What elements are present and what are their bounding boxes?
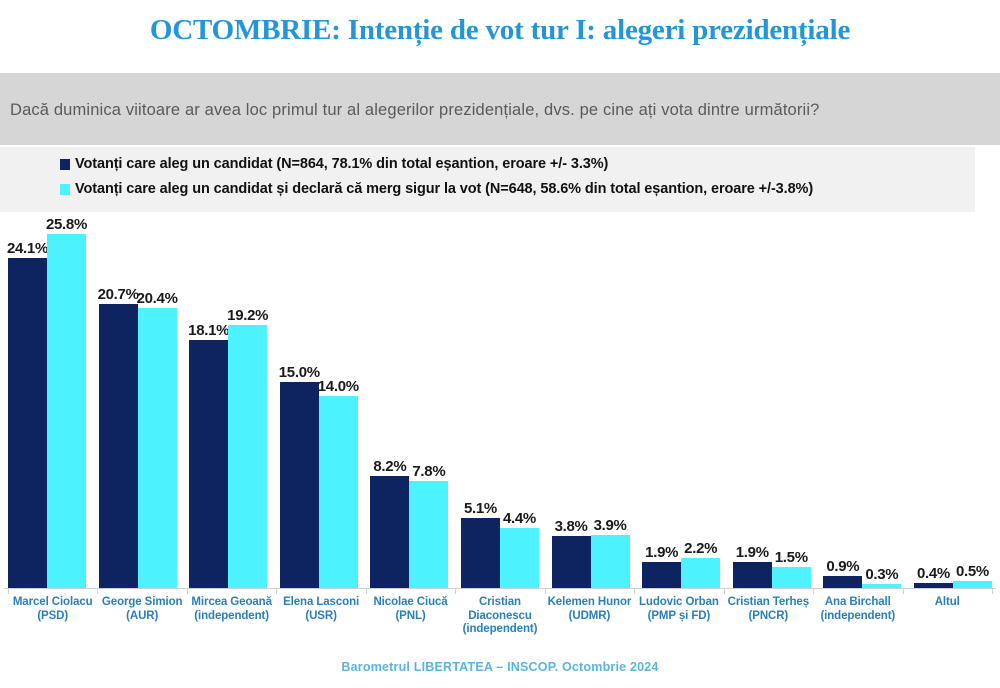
category-label: Marcel Ciolacu(PSD) (8, 596, 97, 637)
category-label-line: Kelemen Hunor (545, 596, 634, 610)
bar-series2: 3.9% (591, 535, 630, 588)
category-label: Altul (903, 596, 992, 637)
bar-pair: 0.4%0.5% (914, 581, 992, 588)
category-label: Kelemen Hunor(UDMR) (545, 596, 634, 637)
category-label-line: (UDMR) (545, 610, 634, 624)
category-label-line: Marcel Ciolacu (8, 596, 97, 610)
bar-value-label: 0.9% (826, 558, 859, 575)
bar-series2: 0.5% (953, 581, 992, 588)
axis-tick (724, 588, 725, 594)
category-label: Nicolae Ciucă(PNL) (366, 596, 455, 637)
bar-series2: 14.0% (319, 396, 358, 588)
legend-label-series1: Votanți care aleg un candidat (N=864, 78… (75, 156, 608, 172)
chart-source-footer: Barometrul LIBERTATEA – INSCOP. Octombri… (0, 660, 1000, 674)
category-label-line: Altul (903, 596, 992, 610)
axis-tick (366, 588, 367, 594)
bar-value-label: 24.1% (7, 240, 48, 257)
axis-tick (276, 588, 277, 594)
axis-tick (455, 588, 456, 594)
bar-value-label: 2.2% (684, 540, 717, 557)
bar-value-label: 0.4% (917, 565, 950, 582)
bar-group: 0.9%0.3% (823, 218, 901, 588)
bar-group: 15.0%14.0% (280, 218, 358, 588)
chart-plot-area: 24.1%25.8%20.7%20.4%18.1%19.2%15.0%14.0%… (8, 218, 992, 588)
bar-series2: 7.8% (409, 481, 448, 588)
category-label-line: Elena Lasconi (276, 596, 365, 610)
category-label-line: Cristian (455, 596, 544, 610)
bar-value-label: 1.5% (775, 549, 808, 566)
question-text: Dacă duminica viitoare ar avea loc primu… (10, 101, 990, 120)
category-label-line: Ana Birchall (813, 596, 902, 610)
bar-group: 24.1%25.8% (8, 218, 86, 588)
bar-group: 3.8%3.9% (552, 218, 630, 588)
legend-swatch-series1 (60, 159, 70, 170)
bar-pair: 3.8%3.9% (552, 535, 630, 588)
category-label-line: (independent) (813, 610, 902, 624)
bar-value-label: 5.1% (464, 500, 497, 517)
category-label: George Simion(AUR) (97, 596, 186, 637)
axis-tick (545, 588, 546, 594)
bar-pair: 20.7%20.4% (99, 304, 177, 588)
page-title: OCTOMBRIE: Intenție de vot tur I: aleger… (0, 14, 1000, 47)
bar-series1: 3.8% (552, 536, 591, 588)
bar-series1: 20.7% (99, 304, 138, 588)
category-label-line: Nicolae Ciucă (366, 596, 455, 610)
axis-tick (187, 588, 188, 594)
bar-value-label: 3.8% (555, 518, 588, 535)
bar-series1: 8.2% (370, 476, 409, 588)
chart-legend: Votanți care aleg un candidat (N=864, 78… (0, 147, 975, 212)
category-label: Mircea Geoană(independent) (187, 596, 276, 637)
bar-value-label: 18.1% (188, 322, 229, 339)
category-label: Ludovic Orban(PMP și FD) (634, 596, 723, 637)
bar-pair: 1.9%2.2% (642, 558, 720, 588)
axis-tick (97, 588, 98, 594)
category-label-line: Mircea Geoană (187, 596, 276, 610)
category-label-line: George Simion (97, 596, 186, 610)
bar-value-label: 4.4% (503, 510, 536, 527)
bar-group: 0.4%0.5% (914, 218, 992, 588)
bar-group: 1.9%1.5% (733, 218, 811, 588)
category-label: Ana Birchall(independent) (813, 596, 902, 637)
bar-pair: 5.1%4.4% (461, 518, 539, 588)
bar-chart: 24.1%25.8%20.7%20.4%18.1%19.2%15.0%14.0%… (0, 218, 1000, 590)
legend-item-series2: Votanți care aleg un candidat și declară… (60, 181, 813, 197)
bar-value-label: 0.3% (865, 566, 898, 583)
bar-group: 8.2%7.8% (370, 218, 448, 588)
category-label: CristianDiaconescu(independent) (455, 596, 544, 637)
axis-tick (813, 588, 814, 594)
bar-pair: 8.2%7.8% (370, 476, 448, 588)
bar-series1: 24.1% (8, 258, 47, 588)
bar-value-label: 3.9% (594, 517, 627, 534)
bar-pair: 0.9%0.3% (823, 576, 901, 588)
bar-series1: 5.1% (461, 518, 500, 588)
bar-pair: 18.1%19.2% (189, 325, 267, 588)
bar-value-label: 20.4% (137, 290, 178, 307)
category-label-line: (PMP și FD) (634, 610, 723, 624)
bar-series2: 1.5% (772, 567, 811, 588)
bar-pair: 24.1%25.8% (8, 234, 86, 588)
bar-value-label: 20.7% (98, 286, 139, 303)
bar-series1: 0.9% (823, 576, 862, 588)
category-label-line: (PNCR) (724, 610, 813, 624)
bar-pair: 1.9%1.5% (733, 562, 811, 588)
bar-value-label: 14.0% (318, 378, 359, 395)
bar-pair: 15.0%14.0% (280, 382, 358, 588)
bar-series2: 4.4% (500, 528, 539, 588)
bar-group: 18.1%19.2% (189, 218, 267, 588)
category-label-line: Cristian Terheș (724, 596, 813, 610)
category-label: Elena Lasconi(USR) (276, 596, 365, 637)
axis-tick (903, 588, 904, 594)
legend-label-series2: Votanți care aleg un candidat și declară… (75, 181, 813, 197)
bar-value-label: 0.5% (956, 563, 989, 580)
bar-series1: 15.0% (280, 382, 319, 588)
legend-swatch-series2 (60, 184, 70, 195)
bar-value-label: 15.0% (279, 364, 320, 381)
bar-series1: 18.1% (189, 340, 228, 588)
question-band: Dacă duminica viitoare ar avea loc primu… (0, 73, 1000, 145)
category-label-line: Diaconescu (455, 610, 544, 624)
bar-series2: 20.4% (138, 308, 177, 588)
category-label-line: (AUR) (97, 610, 186, 624)
bar-series2: 19.2% (228, 325, 267, 588)
category-label-line: Ludovic Orban (634, 596, 723, 610)
axis-tick (8, 588, 9, 594)
bar-group: 1.9%2.2% (642, 218, 720, 588)
category-label-line: (USR) (276, 610, 365, 624)
axis-tick (634, 588, 635, 594)
category-label-line: (PNL) (366, 610, 455, 624)
bar-series2: 25.8% (47, 234, 86, 588)
category-label: Cristian Terheș(PNCR) (724, 596, 813, 637)
bar-value-label: 1.9% (736, 544, 769, 561)
bar-series2: 2.2% (681, 558, 720, 588)
bar-value-label: 1.9% (645, 544, 678, 561)
x-axis-category-labels: Marcel Ciolacu(PSD)George Simion(AUR)Mir… (8, 596, 992, 637)
category-label-line: (PSD) (8, 610, 97, 624)
bar-value-label: 8.2% (373, 458, 406, 475)
bar-value-label: 7.8% (412, 463, 445, 480)
bar-series1: 1.9% (733, 562, 772, 588)
category-label-line: (independent) (187, 610, 276, 624)
bar-group: 5.1%4.4% (461, 218, 539, 588)
legend-item-series1: Votanți care aleg un candidat (N=864, 78… (60, 156, 608, 172)
bar-value-label: 19.2% (227, 307, 268, 324)
bar-series1: 1.9% (642, 562, 681, 588)
category-label-line: (independent) (455, 623, 544, 637)
axis-tick (992, 588, 993, 594)
x-axis-line (4, 588, 996, 589)
bar-value-label: 25.8% (46, 216, 87, 233)
bar-group: 20.7%20.4% (99, 218, 177, 588)
